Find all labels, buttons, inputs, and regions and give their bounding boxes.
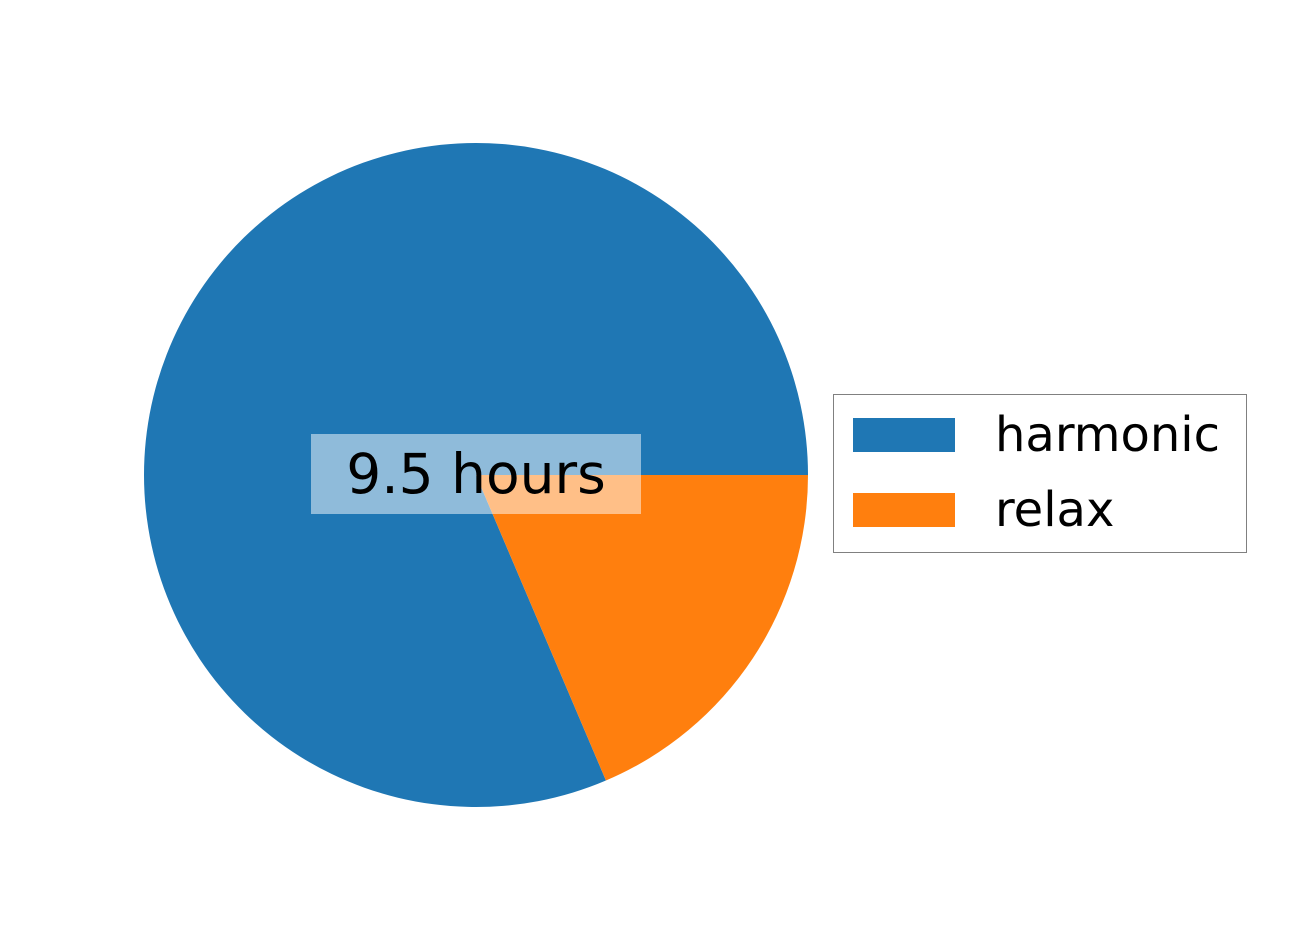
legend-label-relax: relax	[995, 486, 1114, 534]
legend-swatch-harmonic	[853, 418, 955, 452]
legend-swatch-relax	[853, 493, 955, 527]
legend-entry-relax[interactable]: relax	[834, 493, 1114, 527]
legend-entry-harmonic[interactable]: harmonic	[834, 418, 1220, 452]
pie-chart-figure: 9.5 hours harmonic relax	[0, 0, 1307, 951]
chart-legend: harmonic relax	[833, 394, 1247, 553]
legend-label-harmonic: harmonic	[995, 411, 1220, 459]
pie-slice-value-label: 9.5 hours	[311, 434, 641, 514]
pie-slice-value-text: 9.5 hours	[346, 447, 606, 502]
